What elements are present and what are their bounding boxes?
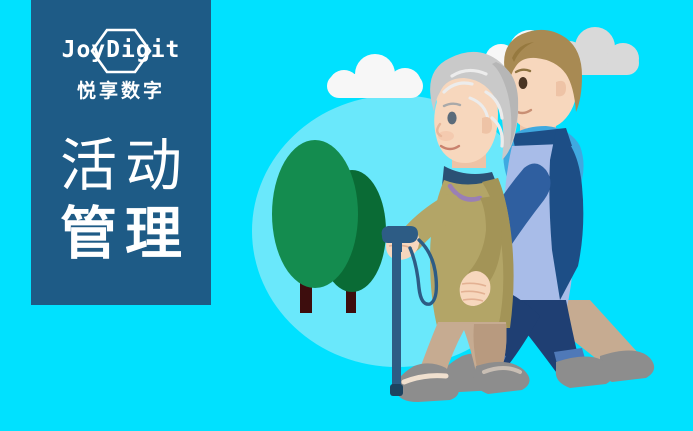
page-title-line1: 活动 — [31, 132, 211, 200]
page-title: 活动 管理 — [31, 132, 211, 268]
logo-chinese-name: 悦享数字 — [31, 80, 211, 104]
page-title-line2: 管理 — [31, 200, 211, 268]
logo-mark: JoyDigit — [31, 26, 211, 74]
poster-canvas: JoyDigit 悦享数字 活动 管理 — [0, 0, 693, 431]
logo-wordmark: JoyDigit — [31, 36, 211, 64]
brand-panel: JoyDigit 悦享数字 活动 管理 — [31, 0, 211, 305]
logo-block: JoyDigit 悦享数字 — [31, 26, 211, 104]
